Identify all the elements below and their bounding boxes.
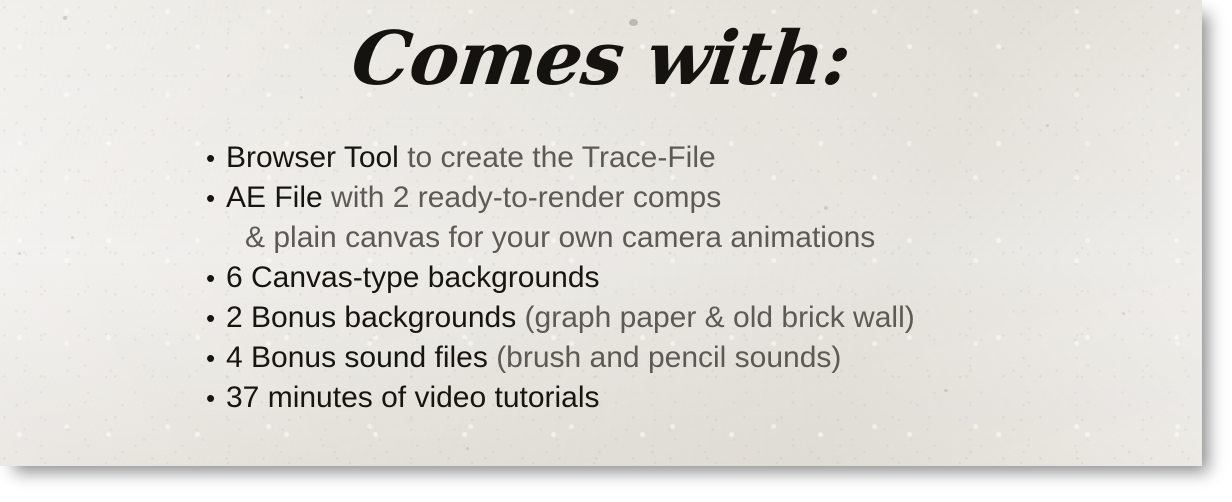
word-space	[323, 178, 331, 218]
screenshot-stage: Comes with: • Browser Tool to create the…	[0, 0, 1232, 502]
bullet-icon: •	[206, 258, 226, 298]
list-item-term: 4 Bonus sound files	[226, 338, 488, 378]
list-item-desc: to create the Trace-File	[407, 138, 715, 178]
bullet-icon: •	[206, 178, 226, 218]
list-item: • 6 Canvas-type backgrounds	[206, 258, 1166, 298]
bullet-icon: •	[206, 298, 226, 338]
word-space	[399, 138, 407, 178]
list-item-term: 2 Bonus backgrounds	[226, 298, 516, 338]
list-item-term: AE File	[226, 178, 323, 218]
list-item-desc: (brush and pencil sounds)	[496, 338, 841, 378]
list-item-continuation-text: & plain canvas for your own camera anima…	[245, 218, 875, 258]
list-item: • 4 Bonus sound files (brush and pencil …	[206, 338, 1166, 378]
word-space	[488, 338, 496, 378]
list-item: • 37 minutes of video tutorials	[206, 378, 1166, 418]
list-item: • AE File with 2 ready-to-render comps	[206, 178, 1166, 218]
list-item-desc: (graph paper & old brick wall)	[525, 298, 915, 338]
list-item-desc: with 2 ready-to-render comps	[331, 178, 721, 218]
word-space	[516, 298, 524, 338]
list-item-term: Browser Tool	[226, 138, 399, 178]
bullet-icon: •	[206, 138, 226, 178]
bullet-icon: •	[206, 378, 226, 418]
list-item: • Browser Tool to create the Trace-File	[206, 138, 1166, 178]
list-item-term: 37 minutes of video tutorials	[226, 378, 600, 418]
page-title: Comes with:	[0, 22, 1202, 96]
feature-list: • Browser Tool to create the Trace-File …	[206, 138, 1166, 418]
bullet-icon: •	[206, 338, 226, 378]
card-content: Comes with: • Browser Tool to create the…	[0, 0, 1202, 466]
paper-card: Comes with: • Browser Tool to create the…	[0, 0, 1202, 466]
list-item-term: 6 Canvas-type backgrounds	[226, 258, 600, 298]
list-item-continuation: & plain canvas for your own camera anima…	[206, 218, 1166, 258]
list-item: • 2 Bonus backgrounds (graph paper & old…	[206, 298, 1166, 338]
